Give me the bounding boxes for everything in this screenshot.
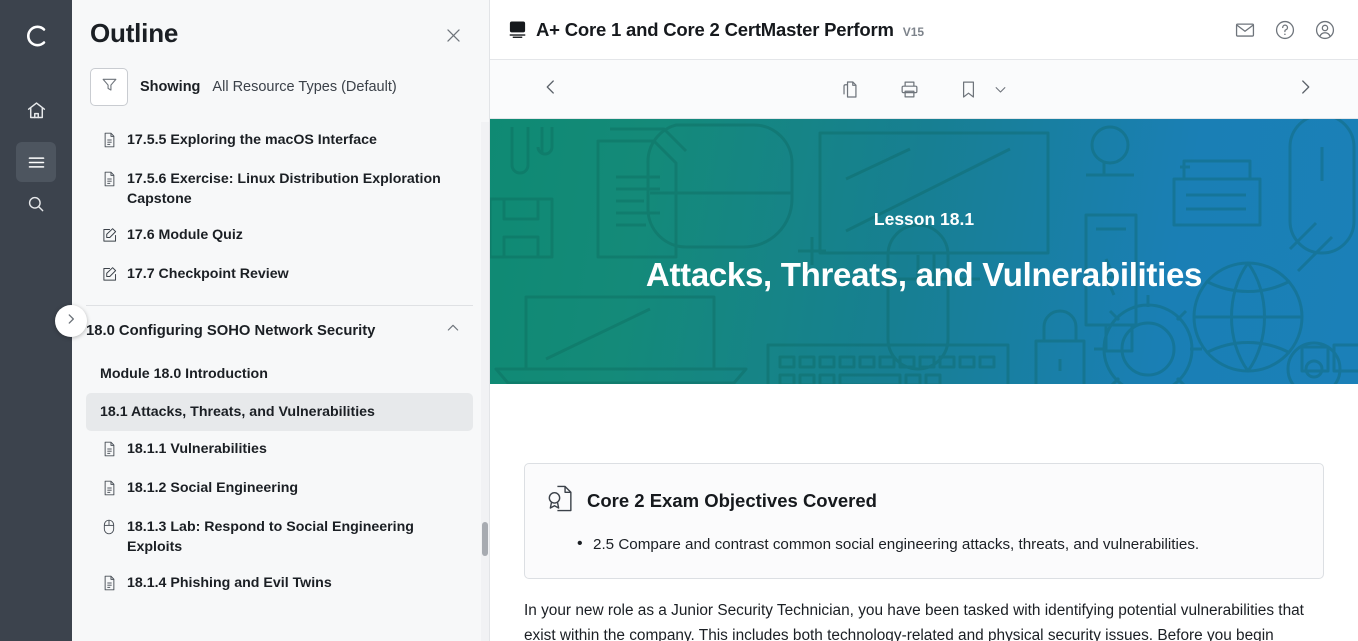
outline-list: 17.5.5 Exploring the macOS Interface 17.… xyxy=(72,122,489,641)
list-item: 2.5 Compare and contrast common social e… xyxy=(577,534,1301,556)
outline-section-header[interactable]: 18.0 Configuring SOHO Network Security xyxy=(86,305,473,355)
list-item[interactable]: 17.6 Module Quiz xyxy=(86,217,473,256)
next-page-button[interactable] xyxy=(1290,72,1320,107)
list-item-label: 17.5.5 Exploring the macOS Interface xyxy=(127,130,377,150)
list-item[interactable]: Module 18.0 Introduction xyxy=(86,355,473,393)
previous-page-button[interactable] xyxy=(536,72,566,107)
outline-scrollbar-thumb[interactable] xyxy=(482,522,488,556)
toolbar-actions xyxy=(840,79,1008,100)
outline-panel: Outline Showing All Resource Types (Defa… xyxy=(72,0,490,641)
edit-icon xyxy=(102,266,118,287)
document-icon xyxy=(102,480,118,501)
document-icon xyxy=(102,132,118,153)
main-content: A+ Core 1 and Core 2 CertMaster Perform … xyxy=(490,0,1358,641)
outline-section-label: 18.0 Configuring SOHO Network Security xyxy=(86,323,375,339)
filter-value[interactable]: All Resource Types (Default) xyxy=(212,79,396,95)
sidebar-item-outline[interactable] xyxy=(16,142,56,182)
exam-objectives-box: Core 2 Exam Objectives Covered 2.5 Compa… xyxy=(524,463,1324,579)
chevron-right-icon xyxy=(1296,83,1314,100)
mouse-icon xyxy=(102,519,118,540)
help-icon[interactable] xyxy=(1274,19,1296,41)
document-icon xyxy=(102,441,118,462)
filter-button[interactable] xyxy=(90,68,128,106)
close-outline-button[interactable] xyxy=(440,22,467,54)
list-item-label: 18.1.3 Lab: Respond to Social Engineerin… xyxy=(127,517,463,557)
left-rail xyxy=(0,0,72,641)
list-item-label: 17.6 Module Quiz xyxy=(127,225,243,245)
outline-header: Outline xyxy=(72,0,489,54)
hero-title: Attacks, Threats, and Vulnerabilities xyxy=(646,256,1202,294)
document-icon xyxy=(102,575,118,596)
lesson-content: Lesson 18.1 Attacks, Threats, and Vulner… xyxy=(490,119,1358,641)
list-item[interactable]: 18.1.4 Phishing and Evil Twins xyxy=(86,565,473,604)
page-title: Outline xyxy=(90,18,178,49)
list-item-selected[interactable]: 18.1 Attacks, Threats, and Vulnerabiliti… xyxy=(86,393,473,431)
list-item-label: 17.5.6 Exercise: Linux Distribution Expl… xyxy=(127,169,463,209)
sidebar-item-search[interactable] xyxy=(16,184,56,224)
close-icon xyxy=(444,32,463,49)
course-header: A+ Core 1 and Core 2 CertMaster Perform … xyxy=(490,0,1358,60)
lesson-toolbar xyxy=(490,60,1358,119)
chevron-up-icon xyxy=(445,320,461,341)
list-item-label: 18.1 Attacks, Threats, and Vulnerabiliti… xyxy=(100,402,375,422)
hero-background-pattern xyxy=(490,119,1358,384)
print-icon[interactable] xyxy=(899,79,920,100)
exam-objectives-title: Core 2 Exam Objectives Covered xyxy=(587,490,877,512)
filter-row: Showing All Resource Types (Default) xyxy=(72,54,489,122)
outline-scrollbar-track[interactable] xyxy=(481,122,489,641)
course-title: A+ Core 1 and Core 2 CertMaster Perform xyxy=(536,19,894,41)
hero-eyebrow: Lesson 18.1 xyxy=(874,209,974,230)
chevron-right-icon xyxy=(64,312,78,331)
edit-icon xyxy=(102,227,118,248)
list-item-label: 18.1.1 Vulnerabilities xyxy=(127,439,267,459)
course-version-badge: V15 xyxy=(903,25,924,39)
chevron-left-icon xyxy=(542,83,560,100)
sidebar-item-home[interactable] xyxy=(16,90,56,130)
chevron-down-icon[interactable] xyxy=(993,82,1008,97)
list-item-label: 17.7 Checkpoint Review xyxy=(127,264,289,284)
search-icon xyxy=(26,194,46,214)
list-item[interactable]: 17.5.6 Exercise: Linux Distribution Expl… xyxy=(86,161,473,217)
exam-objectives-header: Core 2 Exam Objectives Covered xyxy=(547,484,1301,518)
list-item-label: Module 18.0 Introduction xyxy=(100,364,268,384)
mail-icon[interactable] xyxy=(1234,19,1256,41)
list-item-label: 18.1.2 Social Engineering xyxy=(127,478,298,498)
list-item-label: 18.1.4 Phishing and Evil Twins xyxy=(127,573,332,593)
panel-expand-button[interactable] xyxy=(55,305,87,337)
course-header-actions xyxy=(1234,19,1336,41)
app-root: Outline Showing All Resource Types (Defa… xyxy=(0,0,1358,641)
lesson-intro-paragraph: In your new role as a Junior Security Te… xyxy=(524,598,1324,641)
menu-icon xyxy=(26,152,47,173)
list-item[interactable]: 18.1.1 Vulnerabilities xyxy=(86,431,473,470)
document-icon xyxy=(102,171,118,192)
list-item[interactable]: 17.5.5 Exploring the macOS Interface xyxy=(86,122,473,161)
list-item[interactable]: 18.1.3 Lab: Respond to Social Engineerin… xyxy=(86,509,473,565)
home-icon xyxy=(26,100,47,121)
lesson-hero-banner: Lesson 18.1 Attacks, Threats, and Vulner… xyxy=(490,119,1358,384)
copy-icon[interactable] xyxy=(840,79,861,100)
exam-objectives-list: 2.5 Compare and contrast common social e… xyxy=(577,534,1301,556)
certificate-document-icon xyxy=(547,484,574,518)
list-item[interactable]: 17.7 Checkpoint Review xyxy=(86,256,473,295)
course-book-icon xyxy=(508,20,527,39)
filter-showing-label: Showing xyxy=(140,79,200,95)
list-item[interactable]: 18.1.2 Social Engineering xyxy=(86,470,473,509)
app-logo-icon[interactable] xyxy=(16,16,56,56)
account-icon[interactable] xyxy=(1314,19,1336,41)
filter-icon xyxy=(100,75,119,99)
course-header-left: A+ Core 1 and Core 2 CertMaster Perform … xyxy=(508,19,1234,41)
bookmark-icon[interactable] xyxy=(958,79,979,100)
